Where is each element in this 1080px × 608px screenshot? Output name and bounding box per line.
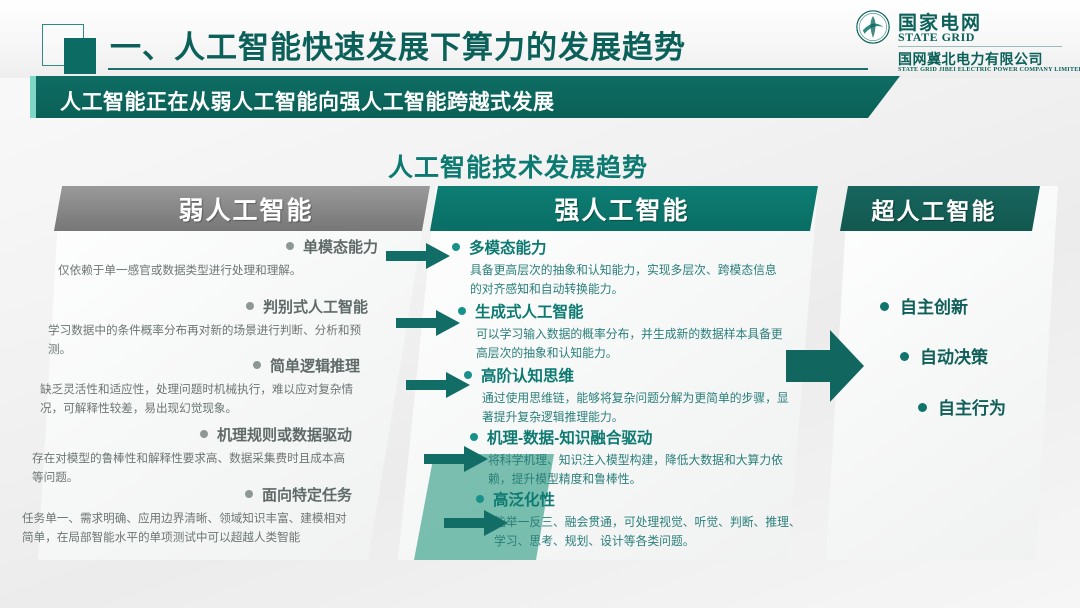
strong-item-5-body: 能举一反三、融会贯通，可处理视觉、听觉、判断、推理、学习、思考、规划、设计等各类… bbox=[476, 513, 806, 551]
right-arrow-icon-4 bbox=[424, 446, 488, 472]
bullet-dot-icon bbox=[470, 433, 478, 441]
strong-item-4-body: 将科学机理、知识注入模型构建，降低大数据和大算力依赖，提升模型精度和鲁棒性。 bbox=[470, 451, 800, 489]
logo: 国家电网 STATE GRID 国网冀北电力有限公司 STATE GRID JI… bbox=[856, 8, 1066, 70]
strong-item-3: 高阶认知思维 通过使用思维链，能够将复杂问题分解为更简单的步骤，显著提升复杂逻辑… bbox=[464, 364, 794, 427]
chart-title: 人工智能技术发展趋势 bbox=[388, 148, 648, 184]
weak-item-3-head: 简单逻辑推理 bbox=[40, 355, 360, 376]
weak-item-4: 机理规则或数据驱动 存在对模型的鲁棒性和解释性要求高、数据采集费时且成本高等问题… bbox=[32, 424, 352, 487]
weak-item-4-head: 机理规则或数据驱动 bbox=[32, 424, 352, 445]
bullet-dot-icon bbox=[200, 430, 208, 438]
strong-item-1: 多模态能力 具备更高层次的抽象和认知能力，实现多层次、跨模态信息的对齐感知和自动… bbox=[452, 236, 782, 299]
weak-item-2-body: 学习数据中的条件概率分布再对新的场景进行判断、分析和预测。 bbox=[48, 321, 368, 359]
subtitle-text: 人工智能正在从弱人工智能向强人工智能跨越式发展 bbox=[60, 86, 555, 116]
state-grid-logo-icon bbox=[856, 10, 890, 44]
header-strong-ai: 强人工智能 bbox=[398, 186, 818, 231]
bullet-dot-icon bbox=[900, 352, 909, 361]
header-rule bbox=[108, 68, 868, 70]
right-arrow-icon-3 bbox=[406, 372, 470, 398]
weak-item-3-body: 缺乏灵活性和适应性，处理问题时机械执行，难以应对复杂情况，可解释性较差，易出现幻… bbox=[40, 380, 360, 418]
bullet-dot-icon bbox=[286, 242, 294, 250]
weak-item-1-head: 单模态能力 bbox=[58, 236, 378, 257]
strong-item-5: 高泛化性 能举一反三、融会贯通，可处理视觉、听觉、判断、推理、学习、思考、规划、… bbox=[476, 488, 806, 551]
header-super-ai: 超人工智能 bbox=[826, 186, 1058, 231]
strong-item-4: 机理-数据-知识融合驱动 将科学机理、知识注入模型构建，降低大数据和大算力依赖，… bbox=[470, 426, 800, 489]
strong-item-5-head: 高泛化性 bbox=[476, 488, 806, 510]
bullet-dot-icon bbox=[476, 495, 484, 503]
bullet-dot-icon bbox=[246, 302, 254, 310]
weak-item-1: 单模态能力 仅依赖于单一感官或数据类型进行处理和理解。 bbox=[58, 236, 378, 280]
logo-name-en: STATE GRID bbox=[898, 30, 975, 45]
weak-item-3: 简单逻辑推理 缺乏灵活性和适应性，处理问题时机械执行，难以应对复杂情况，可解释性… bbox=[40, 355, 360, 418]
logo-company-en: STATE GRID JIBEI ELECTRIC POWER COMPANY … bbox=[898, 66, 1080, 73]
weak-item-5-body: 任务单一、需求明确、应用边界清晰、领域知识丰富、建模相对简单，在局部智能水平的单… bbox=[22, 509, 352, 547]
header-weak-ai: 弱人工智能 bbox=[38, 186, 430, 231]
weak-item-4-body: 存在对模型的鲁棒性和解释性要求高、数据采集费时且成本高等问题。 bbox=[32, 449, 352, 487]
bullet-dot-icon bbox=[452, 243, 460, 251]
strong-item-2-body: 可以学习输入数据的概率分布，并生成新的数据样本具备更高层次的抽象和认知能力。 bbox=[458, 325, 788, 363]
strong-item-3-head: 高阶认知思维 bbox=[464, 364, 794, 386]
logo-divider bbox=[898, 46, 1062, 47]
header-strong-ai-label: 强人工智能 bbox=[554, 191, 689, 227]
weak-item-2-head: 判别式人工智能 bbox=[48, 296, 368, 317]
subtitle-accent bbox=[30, 76, 36, 118]
slide-root: 一、人工智能快速发展下算力的发展趋势 国家电网 STATE GRID 国网冀北电… bbox=[0, 0, 1080, 608]
bullet-dot-icon bbox=[880, 302, 889, 311]
bullet-dot-icon bbox=[245, 490, 253, 498]
weak-item-1-body: 仅依赖于单一感官或数据类型进行处理和理解。 bbox=[58, 261, 378, 280]
header-super-ai-label: 超人工智能 bbox=[872, 192, 997, 226]
right-arrow-icon-2 bbox=[396, 310, 460, 336]
strong-item-3-body: 通过使用思维链，能够将复杂问题分解为更简单的步骤，显著提升复杂逻辑推理能力。 bbox=[464, 389, 794, 427]
strong-item-2-head: 生成式人工智能 bbox=[458, 300, 788, 322]
page-title: 一、人工智能快速发展下算力的发展趋势 bbox=[110, 22, 686, 67]
weak-item-5-head: 面向特定任务 bbox=[22, 484, 352, 505]
strong-item-1-head: 多模态能力 bbox=[452, 236, 782, 258]
super-item-1: 自主创新 bbox=[880, 293, 968, 318]
strong-item-2: 生成式人工智能 可以学习输入数据的概率分布，并生成新的数据样本具备更高层次的抽象… bbox=[458, 300, 788, 363]
bullet-dot-icon bbox=[918, 403, 927, 412]
bullet-dot-icon bbox=[253, 361, 261, 369]
strong-item-1-body: 具备更高层次的抽象和认知能力，实现多层次、跨模态信息的对齐感知和自动转换能力。 bbox=[452, 261, 782, 299]
decor-square-filled bbox=[64, 38, 96, 74]
weak-item-2: 判别式人工智能 学习数据中的条件概率分布再对新的场景进行判断、分析和预测。 bbox=[48, 296, 368, 359]
right-arrow-icon-1 bbox=[386, 243, 450, 269]
large-right-arrow-icon bbox=[786, 330, 864, 402]
super-item-3: 自主行为 bbox=[918, 394, 1006, 419]
super-item-2: 自动决策 bbox=[900, 343, 988, 368]
strong-item-4-head: 机理-数据-知识融合驱动 bbox=[470, 426, 800, 448]
right-arrow-icon-5 bbox=[444, 510, 508, 536]
header-weak-ai-label: 弱人工智能 bbox=[178, 191, 313, 227]
weak-item-5: 面向特定任务 任务单一、需求明确、应用边界清晰、领域知识丰富、建模相对简单，在局… bbox=[22, 484, 352, 547]
